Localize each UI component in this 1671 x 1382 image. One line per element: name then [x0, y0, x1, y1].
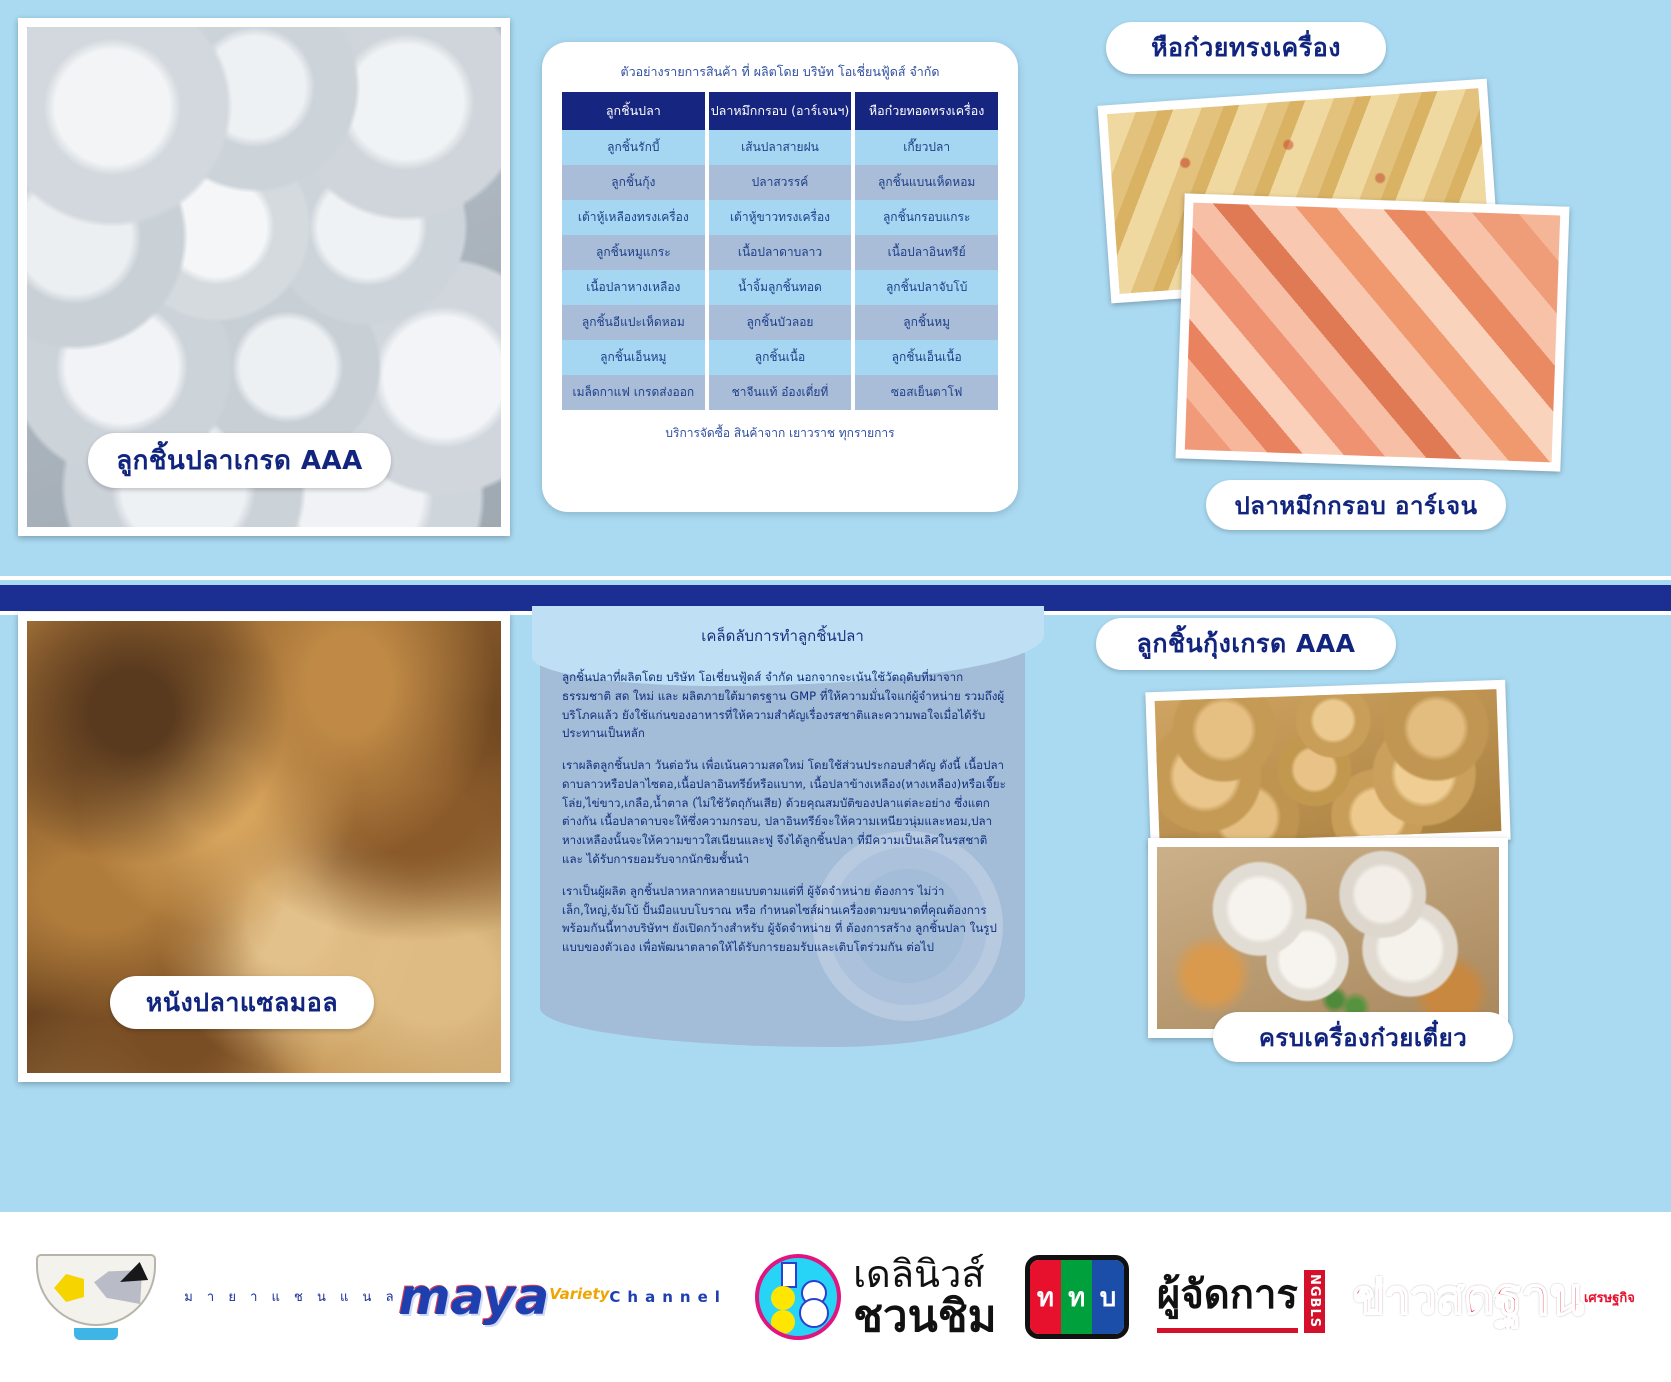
table-row: ลูกชิ้นอีแปะเห็ดหอม ลูกชิ้นบัวลอย ลูกชิ้… — [562, 305, 998, 340]
table-cell: เมล็ดกาแฟ เกรดส่งออก — [562, 375, 705, 410]
caption-salmon-skin: หนังปลาแซลมอล — [110, 976, 374, 1029]
table-cell: ลูกชิ้นปลาจับโบ้ — [855, 270, 998, 305]
table-cell: เต้าหู้เหลืองทรงเครื่อง — [562, 200, 705, 235]
photo-shrimp-balls — [1145, 680, 1510, 852]
table-row: ลูกชิ้นกุ้ง ปลาสวรรค์ ลูกชิ้นแบนเห็ดหอม — [562, 165, 998, 200]
logo-maya-channel: ม า ย า แ ช น แ น ล maya Variety Channel — [184, 1272, 727, 1322]
maya-wordmark: maya — [399, 1272, 550, 1322]
table-cell: เกี๊ยวปลา — [855, 130, 998, 165]
maya-variety-label: Variety — [549, 1287, 609, 1302]
brochure-page: ลูกชิ้นปลาเกรด AAA ตัวอย่างรายการสินค้า … — [0, 0, 1671, 1382]
dailynews-line2: ชวนชิม — [853, 1295, 997, 1339]
logo-dailynews-chuanchim: เดลินิวส์ ชวนชิม — [755, 1254, 997, 1340]
bowl-body-icon — [36, 1254, 156, 1326]
dailynews-dot-icon — [771, 1286, 795, 1310]
yellow-fish-icon — [54, 1274, 84, 1302]
table-cell: ลูกชิ้นกรอบแกระ — [855, 200, 998, 235]
table-header-cell: ลูกชิ้นปลา — [562, 92, 705, 130]
logo-fish-bowl — [36, 1254, 156, 1340]
table-header-cell: ปลาหมึกกรอบ (อาร์เจนฯ) — [709, 92, 852, 130]
table-cell: ลูกชิ้นบัวลอย — [709, 305, 852, 340]
photo-noodle-soup-image — [1157, 847, 1499, 1029]
table-cell: เนื้อปลาดาบลาว — [709, 235, 852, 270]
caption-fishball-aaa: ลูกชิ้นปลาเกรด AAA — [88, 433, 391, 488]
product-table-title: ตัวอย่างรายการสินค้า ที่ ผลิตโดย บริษัท … — [558, 54, 1002, 92]
table-cell: เนื้อปลาอินทรีย์ — [855, 235, 998, 270]
dailynews-text-block: เดลินิวส์ ชวนชิม — [853, 1255, 997, 1339]
bowl-foot-icon — [74, 1328, 118, 1340]
photo-squid-strips-image — [1185, 203, 1560, 463]
table-cell: เนื้อปลาหางเหลือง — [562, 270, 705, 305]
table-row: ลูกชิ้นเอ็นหมู ลูกชิ้นเนื้อ ลูกชิ้นเอ็นเ… — [562, 340, 998, 375]
table-cell: ลูกชิ้นรักบี้ — [562, 130, 705, 165]
caption-squid-argen: ปลาหมึกกรอบ อาร์เจน — [1206, 480, 1506, 530]
table-row: ลูกชิ้นหมูแกระ เนื้อปลาดาบลาว เนื้อปลาอิ… — [562, 235, 998, 270]
maya-thai-label: ม า ย า แ ช น แ น ล — [184, 1291, 398, 1304]
table-cell: ลูกชิ้นหมู — [855, 305, 998, 340]
manager-tag: NGBLS — [1304, 1270, 1325, 1332]
photo-shrimp-balls-image — [1155, 689, 1502, 843]
product-table: ลูกชิ้นปลา ปลาหมึกกรอบ (อาร์เจนฯ) หือก๋ว… — [558, 92, 1002, 410]
ttb-letter: ท — [1061, 1260, 1092, 1334]
caption-shrimp-ball-aaa: ลูกชิ้นกุ้งเกรด AAA — [1096, 618, 1396, 670]
caption-hoi-kuay: หือก๋วยทรงเครื่อง — [1106, 22, 1386, 74]
table-row: เนื้อปลาหางเหลือง น้ำจิ้มลูกชิ้นทอด ลูกช… — [562, 270, 998, 305]
table-header-row: ลูกชิ้นปลา ปลาหมึกกรอบ (อาร์เจนฯ) หือก๋ว… — [562, 92, 998, 130]
table-cell: ลูกชิ้นแบนเห็ดหอม — [855, 165, 998, 200]
table-row: ลูกชิ้นรักบี้ เส้นปลาสายฝน เกี๊ยวปลา — [562, 130, 998, 165]
table-header-cell: หือก๋วยทอดทรงเครื่อง — [855, 92, 998, 130]
logo-khaosod-than: ข่าวสด ฐาน เศรษฐกิจ — [1353, 1272, 1635, 1322]
secret-paragraph: ลูกชิ้นปลาที่ผลิตโดย บริษัท โอเชี่ยนฟู้ด… — [562, 668, 1007, 743]
table-cell: ปลาสวรรค์ — [709, 165, 852, 200]
secret-paragraph: เราผลิตลูกชิ้นปลา วันต่อวัน เพื่อเน้นควา… — [562, 756, 1007, 869]
table-cell: ลูกชิ้นเนื้อ — [709, 340, 852, 375]
maya-channel-label: Channel — [609, 1290, 726, 1305]
caption-full-noodle-set: ครบเครื่องก๋วยเตี๋ยว — [1213, 1012, 1513, 1062]
logo-ttb-channel5: ท ท บ — [1025, 1255, 1129, 1339]
ttb-letter: บ — [1092, 1260, 1123, 1334]
photo-noodle-soup — [1148, 838, 1508, 1038]
dailynews-circle-icon — [755, 1254, 841, 1340]
fish-bowl-icon — [36, 1254, 156, 1340]
secret-paragraph: เราเป็นผู้ผลิต ลูกชิ้นปลาหลากหลายแบบตามแ… — [562, 882, 1007, 957]
product-table-card: ตัวอย่างรายการสินค้า ที่ ผลิตโดย บริษัท … — [542, 42, 1018, 512]
secret-text-card: เคล็ดลับการทำลูกชิ้นปลา ลูกชิ้นปลาที่ผลิ… — [540, 612, 1025, 1047]
product-table-footnote: บริการจัดซื้อ สินค้าจาก เยาวราช ทุกรายกา… — [558, 410, 1002, 443]
table-cell: ลูกชิ้นกุ้ง — [562, 165, 705, 200]
table-row: เมล็ดกาแฟ เกรดส่งออก ชาจีนแท้ อ๋องเตี่ยท… — [562, 375, 998, 410]
dailynews-line1: เดลินิวส์ — [853, 1255, 997, 1293]
table-cell: ซอสเย็นตาโฟ — [855, 375, 998, 410]
dailynews-dot-icon — [771, 1310, 795, 1334]
table-cell: ลูกชิ้นเอ็นเนื้อ — [855, 340, 998, 375]
khaosod-line1: ข่าวสด — [1353, 1274, 1494, 1320]
secret-body: ลูกชิ้นปลาที่ผลิตโดย บริษัท โอเชี่ยนฟู้ด… — [562, 668, 1007, 970]
secret-title: เคล็ดลับการทำลูกชิ้นปลา — [540, 624, 1025, 648]
khaosod-line2: ฐาน — [1494, 1272, 1584, 1322]
ttb-badge-icon: ท ท บ — [1025, 1255, 1129, 1339]
table-cell: ลูกชิ้นหมูแกระ — [562, 235, 705, 270]
table-cell: ลูกชิ้นอีแปะเห็ดหอม — [562, 305, 705, 340]
table-cell: น้ำจิ้มลูกชิ้นทอด — [709, 270, 852, 305]
table-cell: ลูกชิ้นเอ็นหมู — [562, 340, 705, 375]
khaosod-subtitle: เศรษฐกิจ — [1584, 1292, 1635, 1305]
table-cell: เส้นปลาสายฝน — [709, 130, 852, 165]
table-cell: เต้าหู้ขาวทรงเครื่อง — [709, 200, 852, 235]
table-row: เต้าหู้เหลืองทรงเครื่อง เต้าหู้ขาวทรงเคร… — [562, 200, 998, 235]
dailynews-square-icon — [781, 1262, 797, 1288]
dailynews-dot-icon — [799, 1298, 829, 1328]
divider-line-top — [0, 576, 1671, 580]
partner-logo-strip: ม า ย า แ ช น แ น ล maya Variety Channel… — [0, 1212, 1671, 1382]
logo-manager: ผู้จัดการ NGBLS — [1157, 1262, 1325, 1333]
table-cell: ชาจีนแท้ อ๋องเตี่ยที่ — [709, 375, 852, 410]
manager-wordmark: ผู้จัดการ — [1157, 1262, 1298, 1333]
photo-squid-strips — [1175, 193, 1569, 471]
ttb-letter: ท — [1030, 1260, 1061, 1334]
